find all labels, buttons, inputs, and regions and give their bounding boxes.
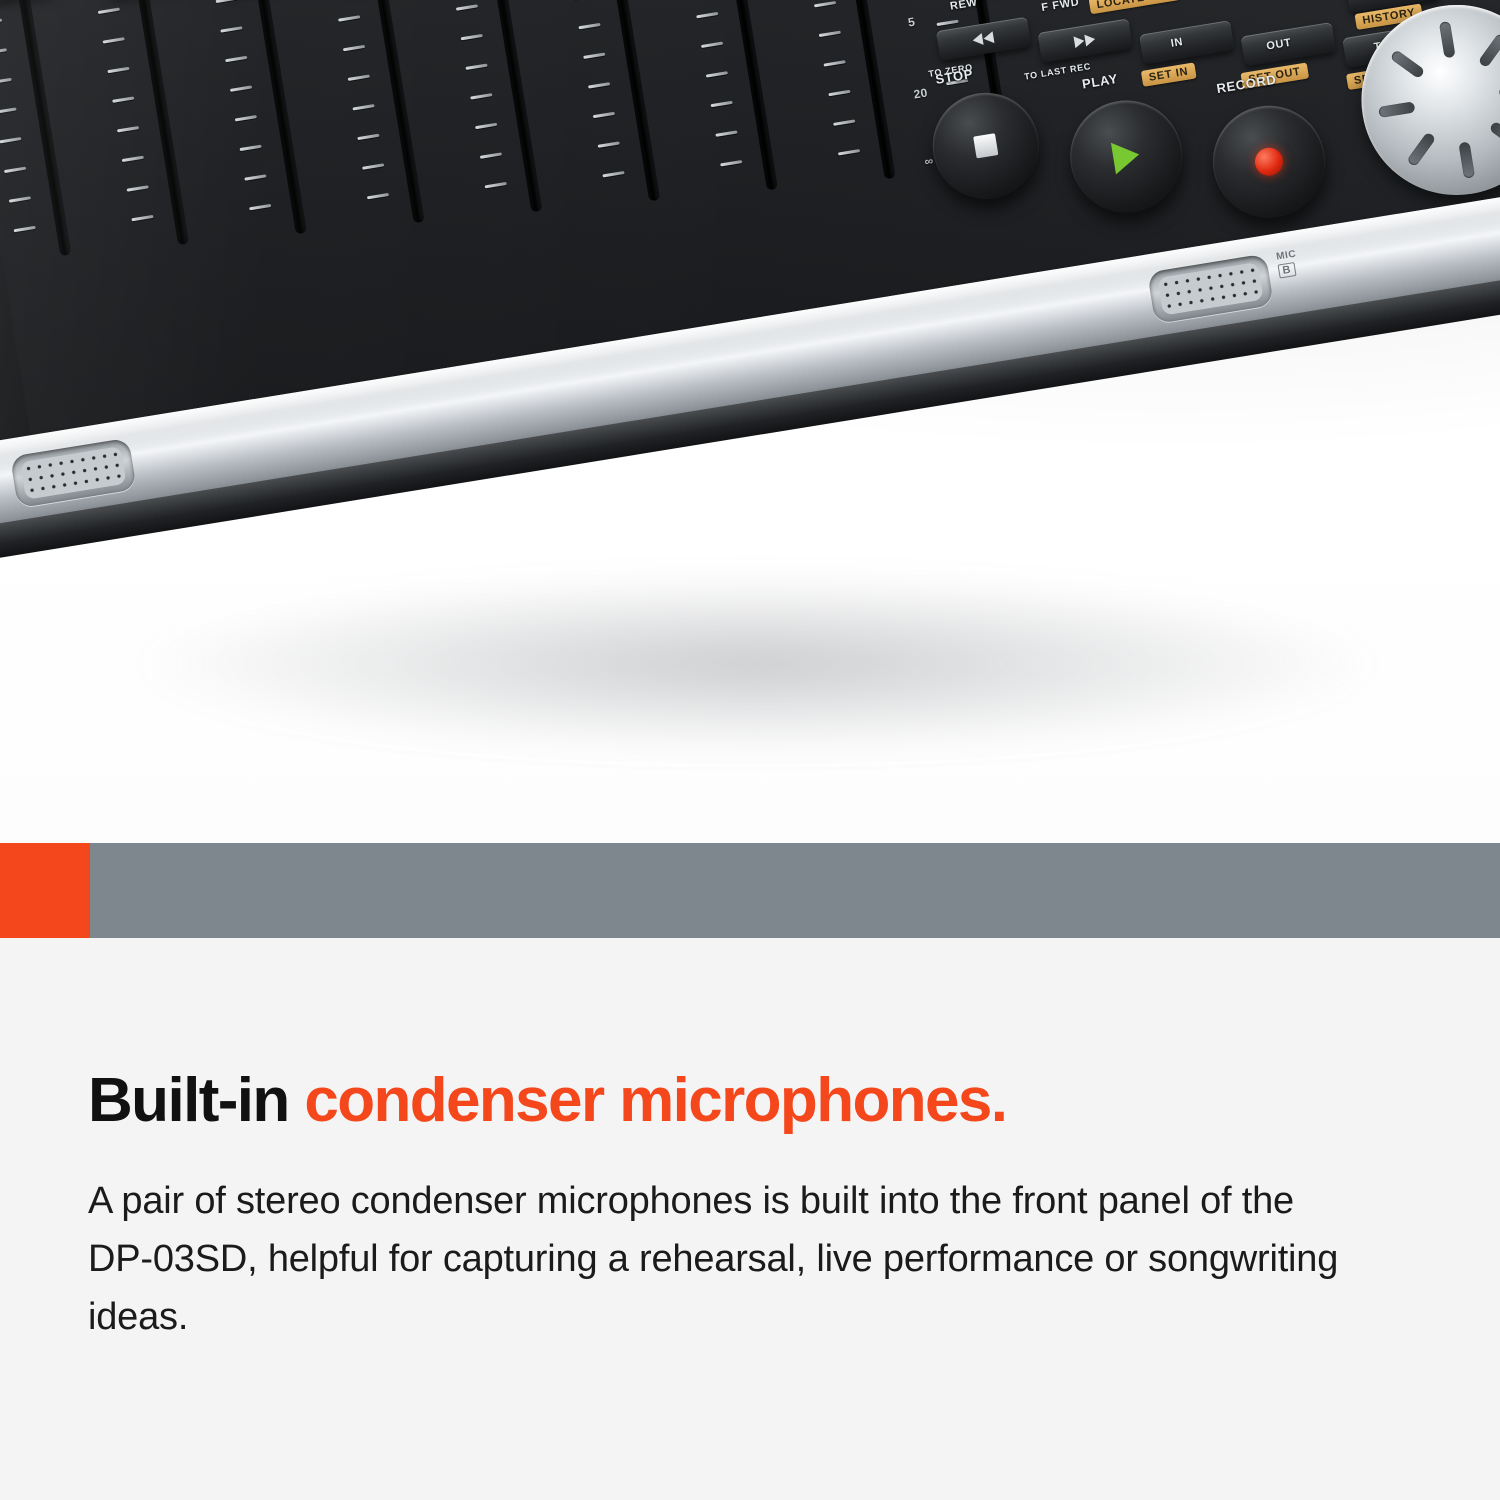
mic-grille-icon [1157,262,1264,316]
product-photo: 0 5 20 ∞ 1 2 3 4 5 6 7 8 MASTER REC REC [0,0,1500,843]
headline-accent: condenser microphones. [304,1066,1006,1135]
divider-band [0,843,1500,938]
mic-grille-icon [20,446,127,500]
in-label: IN [1170,36,1184,50]
stop-icon [973,133,998,158]
wheel-slot [1378,101,1415,118]
body-paragraph: A pair of stereo condenser microphones i… [88,1173,1353,1346]
mic-b-text: MIC [1275,249,1297,263]
wheel-slot [1438,21,1455,58]
copy-section: Built-in condenser microphones. A pair o… [0,938,1500,1500]
mic-b-letter: B [1278,262,1297,278]
rewind-icon [972,31,996,46]
play-icon [1111,139,1142,175]
fast-forward-icon [1073,33,1097,48]
fader-scale-label-20: 20 [913,86,929,102]
headline-plain: Built-in [88,1066,304,1135]
record-icon [1253,146,1285,178]
product-drop-shadow [40,560,1420,790]
product-feature-page: 0 5 20 ∞ 1 2 3 4 5 6 7 8 MASTER REC REC [0,0,1500,1500]
wheel-slot [1477,33,1500,69]
headline: Built-in condenser microphones. [88,1068,1418,1133]
wheel-slot [1389,49,1425,79]
wheel-slot [1458,142,1475,179]
wheel-slot [1488,121,1500,151]
accent-block [0,843,90,938]
mic-b-label: MIC B [1275,249,1299,279]
band-bar [90,843,1500,938]
wheel-slot [1406,132,1436,168]
